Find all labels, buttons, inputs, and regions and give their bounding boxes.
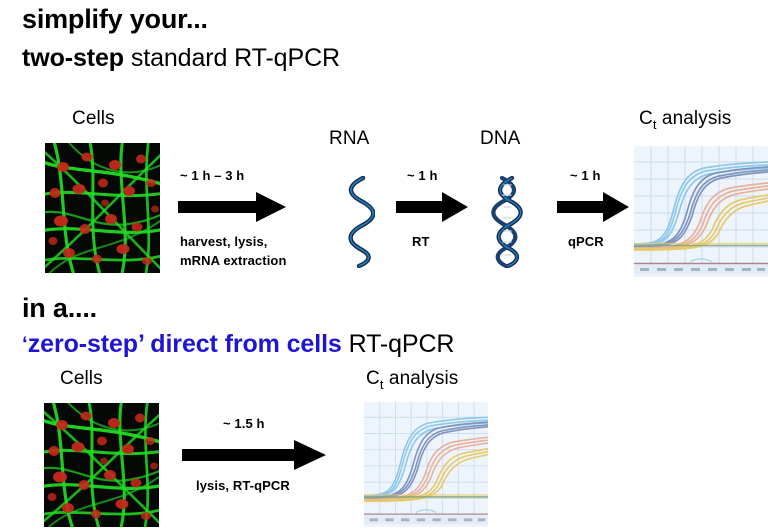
subtitle-zero-step: ‘zero-step’ direct from cells RT-qPCR xyxy=(22,330,454,359)
step-2-time: ~ 1 h xyxy=(407,168,438,183)
rna-strand-icon xyxy=(343,176,375,268)
zero-step-ct-analysis-label: Ct analysis xyxy=(366,368,458,392)
dna-label: DNA xyxy=(480,128,520,150)
step-3-arrow xyxy=(557,192,629,222)
page-title-in-a: in a.... xyxy=(22,293,97,324)
step-3-action-line1: qPCR xyxy=(568,234,604,249)
two-step-ct-analysis-label: Ct analysis xyxy=(639,108,731,132)
step-1-action-line2: mRNA extraction xyxy=(180,253,286,268)
two-step-qpcr-plot xyxy=(634,146,768,277)
step-2-arrow xyxy=(396,192,468,222)
subtitle-zero-step-rest: RT-qPCR xyxy=(342,330,455,358)
subtitle-two-step-rest: standard RT-qPCR xyxy=(124,44,340,72)
zero-step-micrograph xyxy=(44,403,159,527)
zero-step-qpcr-plot xyxy=(364,402,488,527)
slide-canvas: simplify your... two-step standard RT-qP… xyxy=(0,0,768,531)
dna-double-helix-icon xyxy=(490,176,524,268)
zero-step-cells-label: Cells xyxy=(60,368,103,390)
two-step-cells-label: Cells xyxy=(72,108,115,130)
zero-step-arrow xyxy=(182,440,326,470)
ct-label-c: C xyxy=(639,108,653,129)
subtitle-zero-step-blue-text: zero-step’ direct from cells xyxy=(28,330,342,358)
step-2-action-line1: RT xyxy=(412,234,430,249)
zero-step-time: ~ 1.5 h xyxy=(223,416,265,431)
step-1-time: ~ 1 h – 3 h xyxy=(180,168,244,183)
ct-label-rest: analysis xyxy=(384,368,459,389)
two-step-micrograph xyxy=(45,143,160,273)
ct-label-rest: analysis xyxy=(657,108,732,129)
rna-label: RNA xyxy=(329,128,369,150)
step-1-action-line1: harvest, lysis, xyxy=(180,234,268,249)
subtitle-zero-step-emphasis: ‘zero-step’ direct from cells xyxy=(22,330,342,358)
zero-step-action-line1: lysis, RT-qPCR xyxy=(196,478,290,493)
subtitle-two-step: two-step standard RT-qPCR xyxy=(22,44,340,73)
step-1-arrow xyxy=(178,192,286,222)
page-title-simplify: simplify your... xyxy=(22,4,208,35)
subtitle-two-step-emphasis: two-step xyxy=(22,44,124,72)
step-3-time: ~ 1 h xyxy=(570,168,601,183)
ct-label-c: C xyxy=(366,368,380,389)
